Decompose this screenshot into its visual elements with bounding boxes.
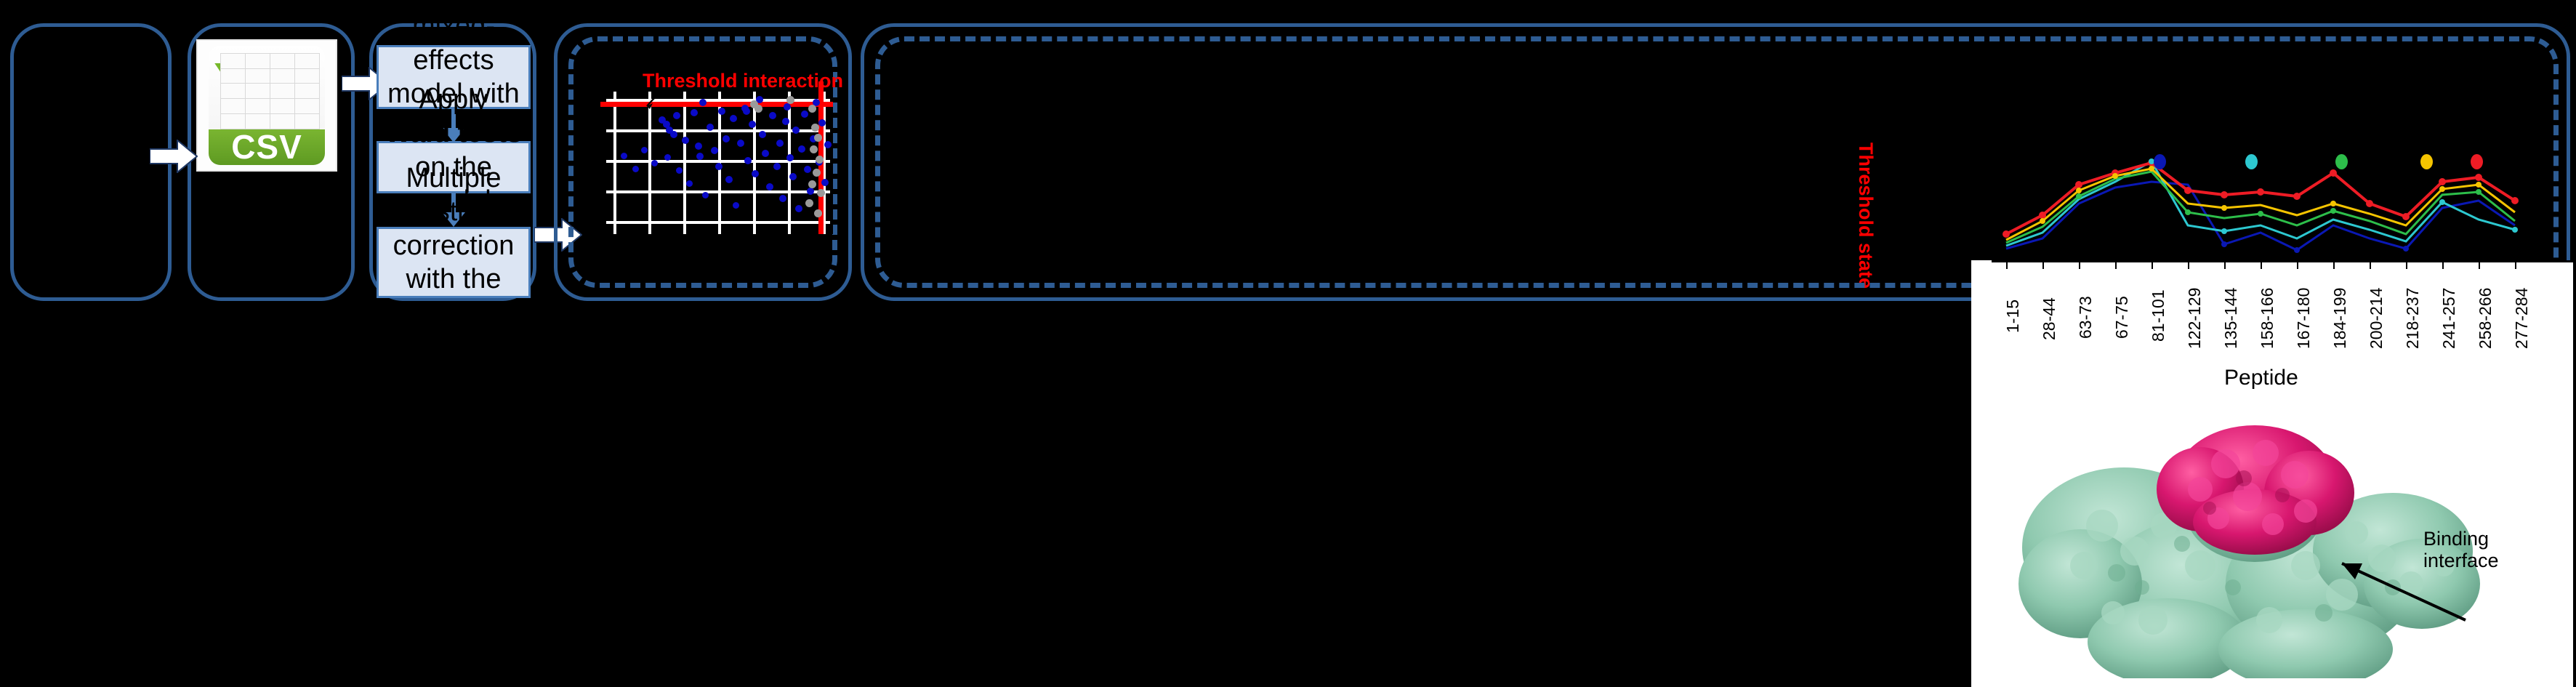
scatter-point bbox=[807, 188, 814, 195]
scatter-point-grey bbox=[810, 145, 818, 153]
scatter-point bbox=[723, 135, 730, 142]
scatter-point bbox=[682, 137, 689, 144]
scatter-point-grey bbox=[814, 209, 822, 217]
scatter-point-grey bbox=[817, 189, 825, 197]
gridline-h bbox=[606, 221, 830, 224]
x-tick bbox=[2152, 262, 2153, 269]
x-tick-label: 135-144 bbox=[2221, 288, 2241, 349]
x-tick bbox=[2406, 262, 2407, 269]
x-tick-label: 184-199 bbox=[2330, 288, 2350, 349]
scatter-point bbox=[776, 140, 784, 147]
x-tick-label: 277-284 bbox=[2512, 288, 2532, 349]
x-tick bbox=[2079, 262, 2080, 269]
scatter-point bbox=[730, 115, 737, 122]
csv-file-icon: X CSV bbox=[198, 41, 336, 170]
x-tick-label: 158-166 bbox=[2258, 288, 2277, 349]
scatter-point bbox=[766, 183, 773, 190]
scatter-point bbox=[670, 131, 677, 138]
scatter-point bbox=[686, 180, 693, 187]
x-tick-label: 258-266 bbox=[2476, 288, 2495, 349]
scatter-point bbox=[733, 202, 739, 209]
scatter-point bbox=[769, 112, 776, 119]
gridline-v bbox=[683, 92, 686, 234]
scatter-point bbox=[744, 157, 752, 164]
x-tick bbox=[2333, 262, 2335, 269]
x-tick-label: 1-15 bbox=[2003, 300, 2023, 333]
x-tick bbox=[2297, 262, 2298, 269]
peptide-axis-title: Peptide bbox=[2224, 366, 2298, 390]
workflow-diagram: X CSV Fit a bbox=[0, 0, 2576, 687]
scatter-point bbox=[621, 153, 627, 159]
scatter-point bbox=[779, 195, 786, 202]
scatter-point bbox=[804, 166, 811, 173]
scatter-point bbox=[801, 111, 808, 118]
scatter-point bbox=[695, 142, 702, 150]
scatter-point bbox=[749, 121, 756, 128]
scatter-point-grey bbox=[786, 96, 794, 104]
step-multiple-testing-box[interactable]: Multiple testing correctionwith the BH p… bbox=[377, 227, 531, 298]
scatter-point bbox=[762, 150, 769, 157]
x-tick-label: 218-237 bbox=[2403, 288, 2423, 349]
scatter-point bbox=[821, 179, 829, 186]
scatter-point bbox=[702, 192, 709, 198]
csv-icon-label-band: CSV bbox=[209, 129, 325, 165]
scatter-point bbox=[792, 126, 800, 134]
scatter-point bbox=[711, 147, 718, 154]
protein-structure-image bbox=[2015, 402, 2495, 678]
scatter-point bbox=[798, 145, 805, 153]
peptide-y-tick-label: 0.0 bbox=[1971, 260, 1991, 265]
scatter-point bbox=[651, 160, 658, 166]
peptide-axis-card: 0.0 1-15 28-44 63-73 67-75 81-101 122-12… bbox=[1971, 260, 2573, 687]
scatter-point bbox=[715, 163, 723, 170]
gridline-v bbox=[753, 92, 756, 234]
scatter-point bbox=[737, 140, 744, 147]
csv-icon-grid bbox=[220, 53, 320, 129]
x-tick-label: 241-257 bbox=[2439, 288, 2459, 349]
step-multiple-testing-text: Multiple testing correctionwith the BH p… bbox=[386, 161, 521, 363]
threshold-interaction-line bbox=[600, 102, 833, 107]
x-tick bbox=[2442, 262, 2444, 269]
scatter-point-grey bbox=[813, 169, 821, 177]
x-tick-label: 28-44 bbox=[2040, 297, 2059, 340]
scatter-point bbox=[691, 109, 698, 116]
scatter-point bbox=[699, 99, 707, 106]
scatter-point-grey bbox=[811, 124, 819, 132]
scatter-point bbox=[632, 166, 639, 172]
x-tick bbox=[2479, 262, 2480, 269]
scatter-point bbox=[786, 154, 794, 161]
scatter-point-grey bbox=[814, 134, 822, 142]
scatter-point bbox=[664, 154, 671, 161]
gridline-v bbox=[788, 92, 791, 234]
scatter-point bbox=[743, 108, 750, 115]
scatter-point-grey bbox=[754, 105, 762, 113]
csv-icon-body: X CSV bbox=[209, 46, 325, 165]
x-tick bbox=[2006, 262, 2008, 269]
arrow-input-to-data bbox=[150, 140, 198, 173]
x-tick-label: 63-73 bbox=[2076, 296, 2096, 339]
scatter-point bbox=[707, 124, 714, 131]
scatter-point bbox=[718, 108, 725, 115]
scatter-point bbox=[673, 112, 680, 119]
x-tick bbox=[2370, 262, 2371, 269]
x-tick bbox=[2515, 262, 2516, 269]
scatter-point-grey bbox=[816, 156, 824, 164]
x-tick-label: 67-75 bbox=[2112, 296, 2132, 339]
x-tick bbox=[2042, 262, 2044, 269]
scatter-point bbox=[773, 163, 781, 170]
gridline-v bbox=[613, 92, 616, 234]
x-tick bbox=[2115, 262, 2117, 269]
scatter-point bbox=[641, 147, 648, 153]
scatter-point bbox=[789, 173, 797, 180]
scatter-point bbox=[676, 167, 683, 174]
x-tick bbox=[2188, 262, 2189, 269]
scatter-point-grey bbox=[805, 199, 813, 207]
scatter-point bbox=[824, 141, 832, 148]
scatter-point bbox=[782, 118, 789, 125]
x-tick-label: 122-129 bbox=[2185, 288, 2205, 349]
x-tick-label: 200-214 bbox=[2367, 288, 2386, 349]
scatter-point bbox=[784, 103, 791, 111]
threshold-interaction-label: Threshold interaction bbox=[643, 70, 843, 92]
x-tick-label: 81-101 bbox=[2149, 289, 2168, 342]
csv-icon-label: CSV bbox=[231, 127, 302, 165]
scatter-point bbox=[795, 205, 802, 212]
scatter-point bbox=[725, 176, 733, 183]
binding-interface-annotation: Binding interface bbox=[2423, 528, 2518, 571]
scatter-point bbox=[752, 170, 759, 177]
x-tick-label: 167-180 bbox=[2294, 288, 2314, 349]
scatter-point-grey bbox=[808, 180, 816, 188]
dashed-reference-line bbox=[707, 190, 798, 193]
scatter-point bbox=[759, 131, 766, 138]
panel-input bbox=[10, 23, 172, 301]
x-tick bbox=[2261, 262, 2262, 269]
scatter-point-grey bbox=[808, 105, 816, 113]
scatter-point bbox=[818, 119, 826, 126]
x-tick bbox=[2224, 262, 2226, 269]
scatter-point bbox=[696, 153, 704, 160]
